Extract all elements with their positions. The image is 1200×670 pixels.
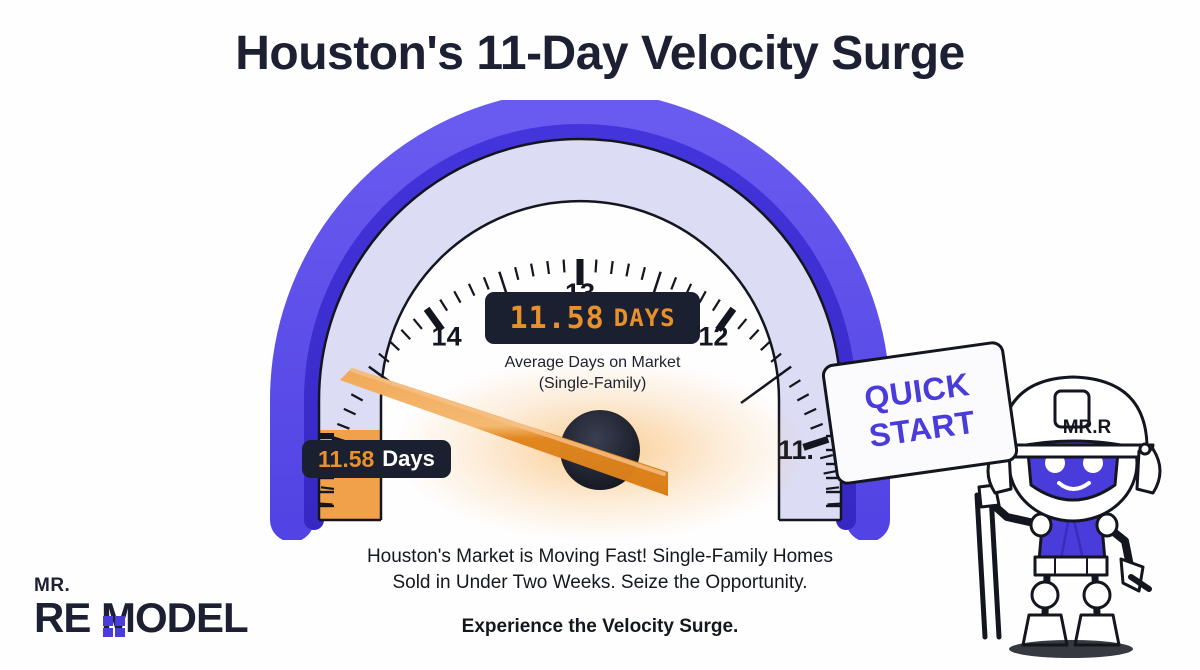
- caption-line-2: (Single-Family): [455, 373, 730, 394]
- helmet-label: MR.R: [1063, 417, 1112, 438]
- gauge-label: 12: [698, 321, 728, 351]
- value-badge: 11.58 Days: [302, 440, 451, 478]
- page-title: Houston's 11-Day Velocity Surge: [0, 26, 1200, 81]
- footer-cta: Experience the Velocity Surge.: [230, 616, 970, 638]
- badge-unit: Days: [382, 446, 435, 472]
- readout-value: 11.58: [509, 301, 604, 336]
- readout-unit: DAYS: [614, 304, 676, 332]
- badge-number: 11.58: [318, 446, 374, 473]
- gauge-label-end: 11.: [355, 536, 391, 540]
- window-pane-icon: [103, 616, 125, 637]
- footer-line-2: Sold in Under Two Weeks. Seize the Oppor…: [230, 570, 970, 596]
- quick-start-sign[interactable]: QUICK START: [820, 340, 1019, 486]
- readout-caption: Average Days on Market (Single-Family): [455, 352, 730, 394]
- caption-line-1: Average Days on Market: [455, 352, 730, 373]
- footer-message: Houston's Market is Moving Fast! Single-…: [230, 544, 970, 596]
- footer-line-1: Houston's Market is Moving Fast! Single-…: [230, 544, 970, 570]
- digital-readout: 11.58 DAYS: [485, 292, 700, 344]
- infographic-canvas: Houston's 11-Day Velocity Surge: [0, 0, 1200, 670]
- brand-logo: MR. RE MODEL: [34, 576, 314, 646]
- logo-top-text: MR.: [34, 576, 314, 596]
- logo-main-text: RE MODEL: [34, 596, 314, 640]
- gauge-label: 14: [432, 321, 462, 351]
